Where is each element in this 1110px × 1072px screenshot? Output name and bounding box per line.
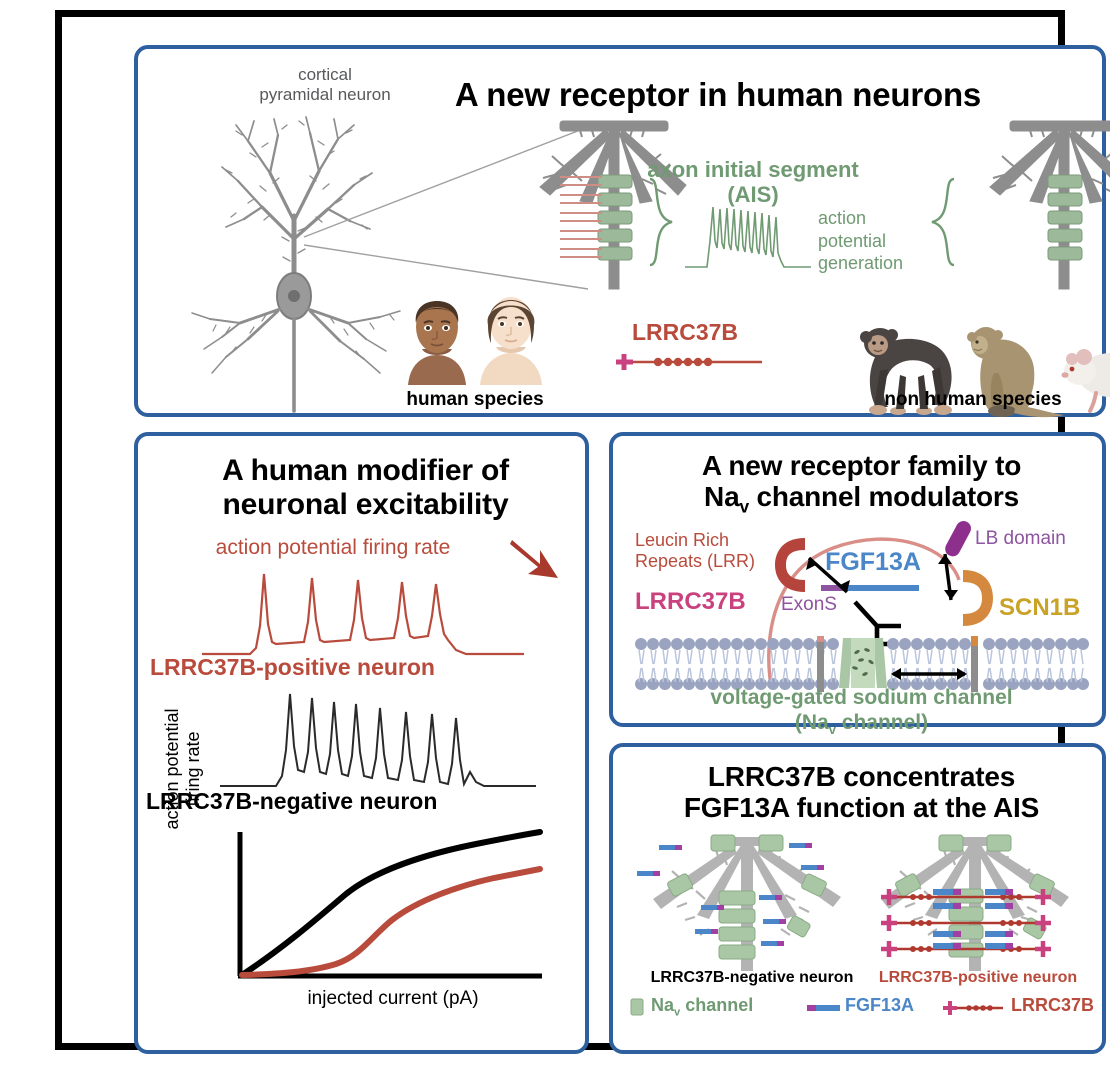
- panel-left-title: A human modifier of neuronal excitabilit…: [148, 454, 583, 521]
- positive-neuron-caption: LRRC37B-positive neuron: [853, 969, 1103, 987]
- fgf13a-legend-label: FGF13A: [845, 995, 914, 1016]
- lrrc37b-positive-trace: [198, 564, 528, 664]
- panel-receptor-family: A new receptor family to Nav channel mod…: [609, 432, 1106, 727]
- nav-caption-pre: (Na: [795, 711, 829, 734]
- panel-bottom-title-line1: LRRC37B concentrates: [623, 761, 1100, 792]
- firing-rate-chart: [226, 828, 556, 1003]
- chart-y-axis-label-line1: action potential: [162, 694, 183, 844]
- lrrc37b-positive-neuron-label: LRRC37B-positive neuron: [150, 654, 580, 681]
- nonhuman-species-label: non human species: [828, 389, 1110, 411]
- cortical-neuron-caption-line1: cortical: [230, 65, 420, 85]
- panel-mid-title-line1: A new receptor family to: [623, 450, 1100, 481]
- human-dark-skin-icon: [396, 293, 478, 385]
- panel-mid-title: A new receptor family to Nav channel mod…: [623, 450, 1100, 517]
- scn1b-label: SCN1B: [999, 594, 1109, 622]
- lrrc37b-negative-trace: [218, 688, 538, 796]
- firing-rate-label: action potential firing rate: [168, 536, 498, 560]
- lrr-label-line1: Leucin Rich: [635, 530, 785, 551]
- panel-human-modifier: A human modifier of neuronal excitabilit…: [134, 432, 589, 1054]
- lrr-interaction-arrow: [801, 552, 859, 600]
- nav-channel-legend-label: Nav channel: [651, 995, 753, 1019]
- panel-new-receptor: A new receptor in human neurons cortical…: [134, 45, 1106, 417]
- graphical-abstract: A new receptor in human neurons cortical…: [0, 0, 1110, 1072]
- panel-left-title-line2: neuronal excitability: [148, 488, 583, 522]
- chart-y-axis-label-line2: firing rate: [183, 694, 204, 844]
- panel-bottom-legend: Nav channel FGF13A LRRC37B: [629, 995, 1094, 1025]
- nav-caption-sub: v: [829, 722, 836, 737]
- lrrc37b-transmembrane: [817, 636, 824, 692]
- ais-action-potential-trace: [683, 201, 813, 273]
- nav-channel-caption-line2: (Nav channel): [629, 711, 1094, 738]
- nav-channel-pore: [839, 638, 887, 688]
- scn1b-interaction-arrow: [931, 548, 965, 608]
- lrrc37b-gene-label: LRRC37B: [600, 319, 770, 346]
- human-species-label: human species: [350, 389, 600, 411]
- nav-legend-pre: Na: [651, 995, 674, 1015]
- nav-channel-stack: [1048, 175, 1082, 260]
- lrr-label: Leucin Rich Repeats (LRR): [635, 530, 785, 572]
- panel-bottom-title: LRRC37B concentrates FGF13A function at …: [623, 761, 1100, 824]
- cortical-neuron-caption-line2: pyramidal neuron: [230, 85, 420, 105]
- nav-legend-post: channel: [680, 995, 753, 1015]
- lrrc37b-negative-neuron-diagram: [633, 833, 863, 973]
- ap-generation-line3: generation: [818, 252, 938, 275]
- nav-channel-legend-swatch: [629, 998, 647, 1016]
- fgf13a-legend-swatch: [807, 1003, 841, 1013]
- lrrc37b-negative-neuron-label: LRRC37B-negative neuron: [146, 788, 576, 815]
- panel-mid-title-na: Na: [704, 481, 739, 512]
- lrrc37b-symbol-icon: [602, 349, 772, 375]
- brace-right-icon: [928, 177, 958, 267]
- chart-y-axis-label: action potential firing rate: [162, 694, 203, 844]
- lrrc37b-legend-swatch: [941, 999, 1007, 1017]
- human-light-skin-icon: [468, 289, 554, 385]
- lrrc37b-label: LRRC37B: [635, 588, 795, 616]
- nav-channel-caption-line1: voltage-gated sodium channel: [629, 686, 1094, 711]
- lipid-bilayer: [635, 636, 1088, 692]
- lrr-label-line2: Repeats (LRR): [635, 551, 785, 572]
- ais-label: axon initial segment (AIS): [608, 157, 898, 207]
- nav-caption-post: channel): [836, 711, 928, 734]
- ap-generation-label: action potential generation: [818, 207, 938, 275]
- cortical-neuron-caption: cortical pyramidal neuron: [230, 65, 420, 106]
- lrrc37b-positive-neuron-diagram: [861, 833, 1091, 973]
- ap-generation-line2: potential: [818, 230, 938, 253]
- panel-bottom-title-line2: FGF13A function at the AIS: [623, 792, 1100, 823]
- chart-series-negative: [242, 832, 540, 975]
- ais-label-line1: axon initial segment: [608, 157, 898, 182]
- panel-left-title-line1: A human modifier of: [148, 454, 583, 488]
- panel-mid-title-line2: Nav channel modulators: [623, 481, 1100, 517]
- nav-channel-caption: voltage-gated sodium channel (Nav channe…: [629, 686, 1094, 737]
- nonhuman-ais-neuron-icon: [960, 115, 1110, 295]
- panel-lrrc37b-concentrates: LRRC37B concentrates FGF13A function at …: [609, 743, 1106, 1054]
- negative-neuron-caption: LRRC37B-negative neuron: [627, 969, 877, 987]
- panel-top-title: A new receptor in human neurons: [338, 77, 1098, 114]
- chart-series-positive: [242, 869, 540, 975]
- outer-frame: A new receptor in human neurons cortical…: [55, 10, 1065, 1050]
- lrrc37b-legend-label: LRRC37B: [1011, 995, 1094, 1016]
- ap-generation-line1: action: [818, 207, 938, 230]
- panel-mid-title-rest: channel modulators: [749, 481, 1019, 512]
- chart-x-axis-label: injected current (pA): [228, 988, 558, 1010]
- panel-mid-title-sub: v: [739, 497, 748, 517]
- lb-domain-label: LB domain: [975, 528, 1105, 550]
